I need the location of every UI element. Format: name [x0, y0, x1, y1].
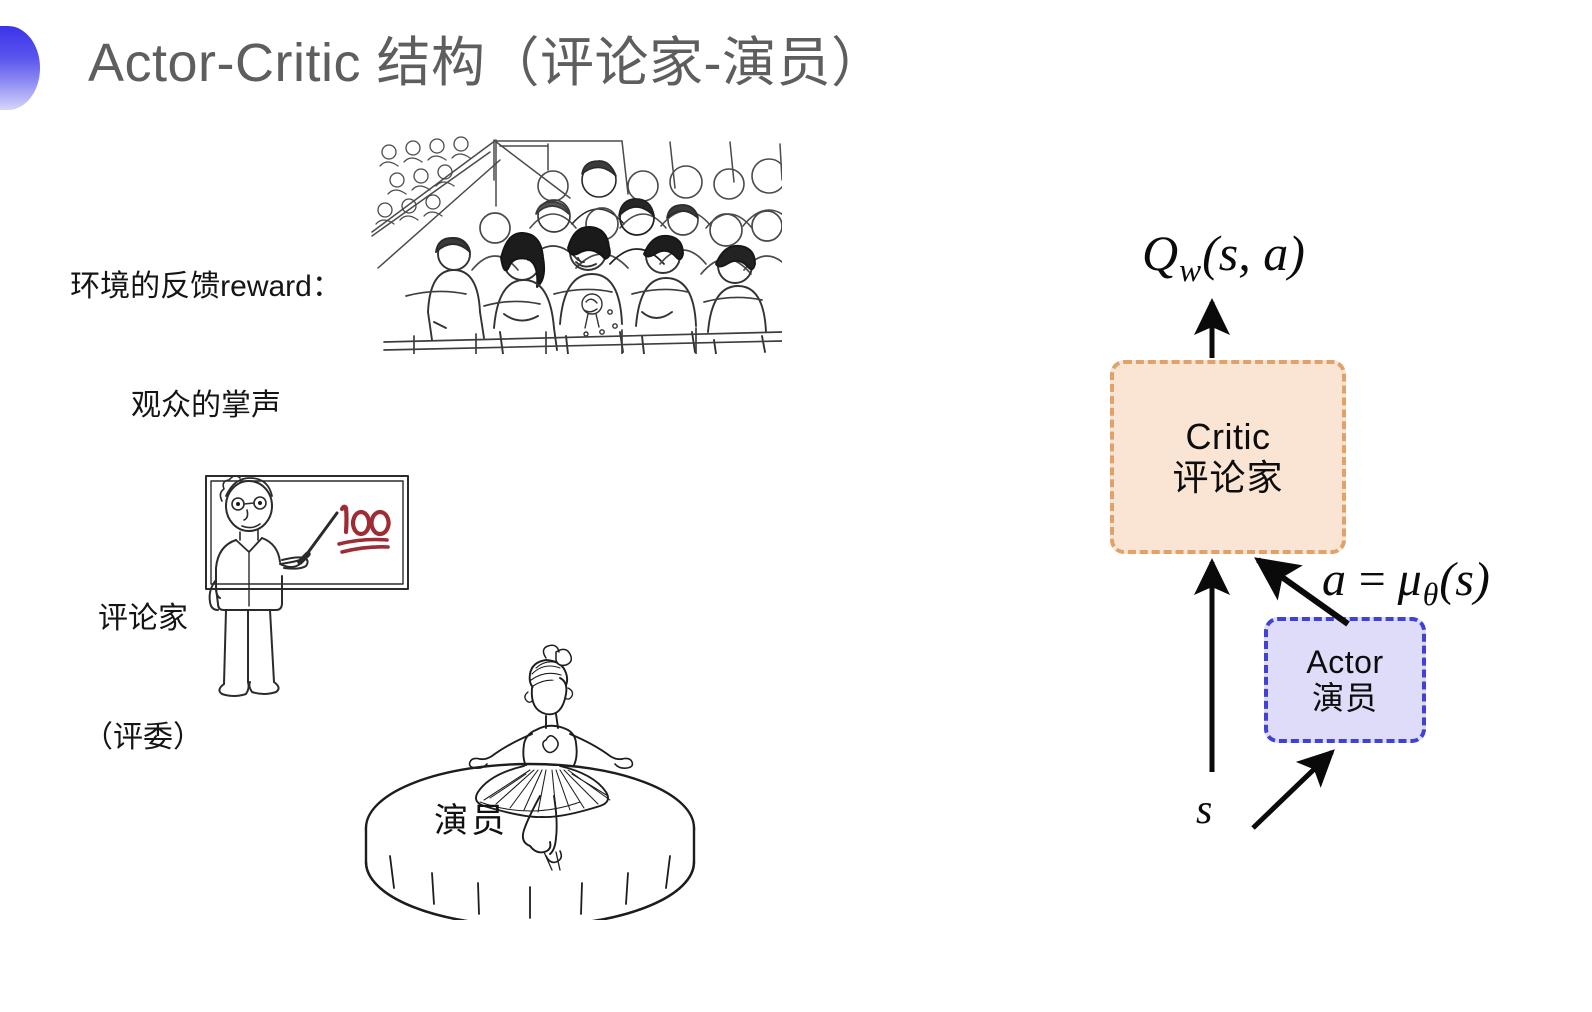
q-value-formula: Qw(s, a): [1142, 224, 1305, 290]
diagram-arrows: [0, 0, 1592, 1012]
state-label: s: [1196, 786, 1212, 834]
critic-node[interactable]: Critic 评论家: [1110, 360, 1346, 554]
arrow-state-to-actor: [1253, 752, 1332, 828]
actor-critic-diagram: Qw(s, a) a = μθ(s) s Critic 评论家 Actor 演员: [0, 0, 1592, 1012]
a-equals: =: [1356, 553, 1388, 606]
a-lhs: a: [1322, 553, 1346, 606]
a-args: (s): [1439, 553, 1490, 606]
q-args: (s, a): [1202, 225, 1305, 281]
critic-node-label-en: Critic: [1186, 416, 1271, 457]
action-formula: a = μθ(s): [1322, 552, 1490, 613]
mu-subscript: θ: [1422, 577, 1440, 612]
critic-node-label-zh: 评论家: [1172, 457, 1283, 498]
q-subscript: w: [1178, 253, 1202, 289]
actor-node[interactable]: Actor 演员: [1264, 617, 1426, 743]
mu-base: μ: [1398, 553, 1422, 606]
q-base: Q: [1142, 225, 1178, 281]
actor-node-label-en: Actor: [1306, 644, 1383, 680]
actor-node-label-zh: 演员: [1312, 680, 1378, 716]
